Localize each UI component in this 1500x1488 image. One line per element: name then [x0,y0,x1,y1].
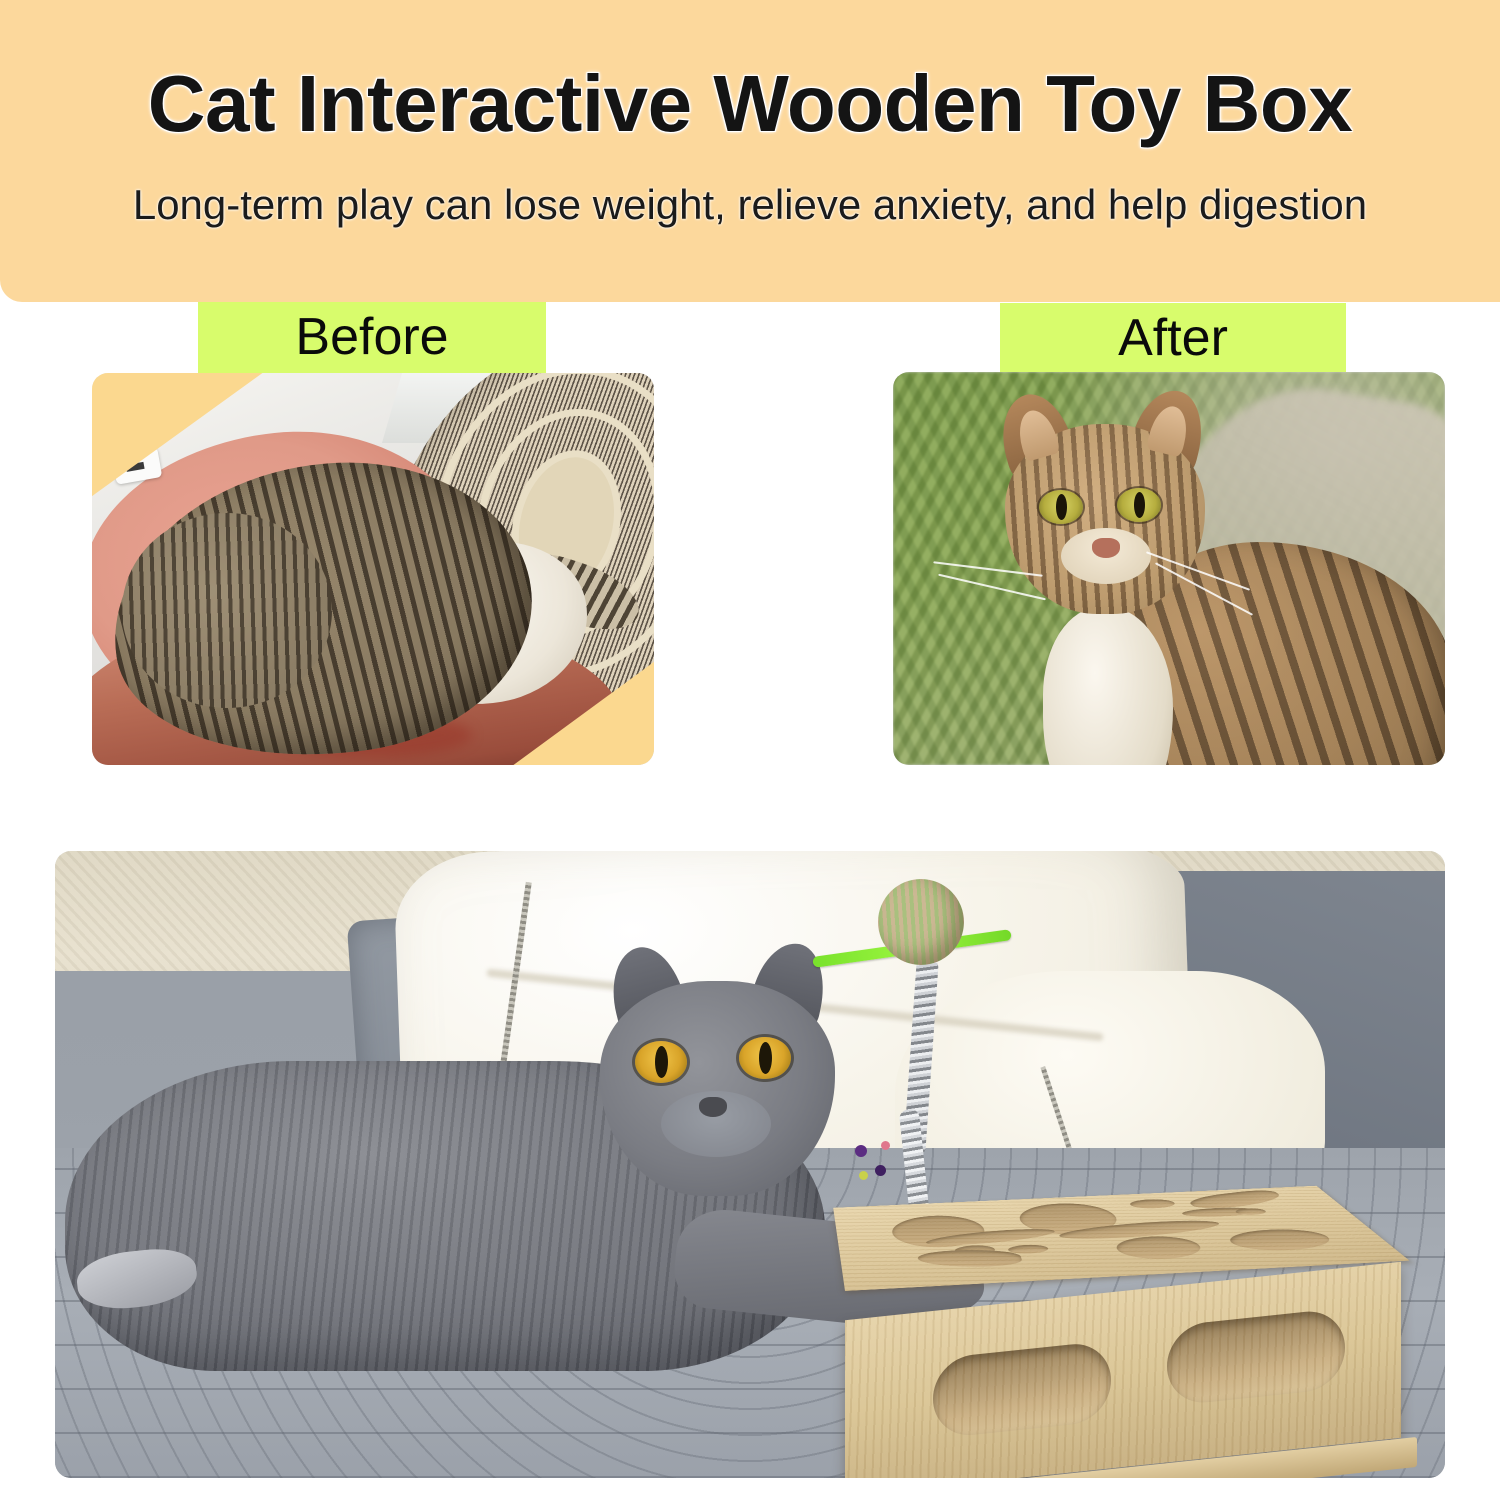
toy-box-hole [1222,1227,1340,1252]
grey-cat-nose [699,1097,727,1117]
before-photo [92,373,654,765]
toy-box-hole [917,1250,1024,1267]
grey-cat-pupil-right [759,1042,772,1074]
before-cat-head [122,513,332,708]
main-product-photo [55,851,1445,1478]
toy-box-hole [924,1226,1059,1248]
toy-box-hole [1179,1206,1261,1218]
after-photo [893,372,1445,765]
toy-box-hole [953,1245,997,1256]
after-cat-pupil-right [1134,492,1145,518]
toy-box-hole [1055,1217,1225,1242]
page-title: Cat Interactive Wooden Toy Box [0,62,1500,147]
sisal-rope-ball [878,879,964,965]
toy-box-side-opening [933,1340,1111,1439]
toy-box-side-opening [1167,1308,1345,1407]
toy-box-hole [889,1214,991,1250]
after-cat-pupil-left [1056,494,1067,520]
toy-box-hole [1233,1208,1269,1216]
after-label: After [1000,303,1346,374]
header-banner: Cat Interactive Wooden Toy Box Long-term… [0,0,1500,302]
before-label: Before [198,302,546,373]
toy-box-front-panel [845,1262,1401,1478]
toy-box-hole [1127,1199,1178,1210]
grey-cat-head [600,981,835,1196]
toy-box-hole [1013,1202,1127,1237]
page-subtitle: Long-term play can lose weight, relieve … [0,182,1500,228]
toy-box-hole [1110,1235,1209,1261]
wooden-toy-box [845,1131,1445,1478]
grey-cat-pupil-left [655,1046,668,1078]
after-cat-nose [1092,538,1120,558]
toy-box-hole [1006,1244,1050,1254]
toy-box-hole [1184,1188,1287,1211]
